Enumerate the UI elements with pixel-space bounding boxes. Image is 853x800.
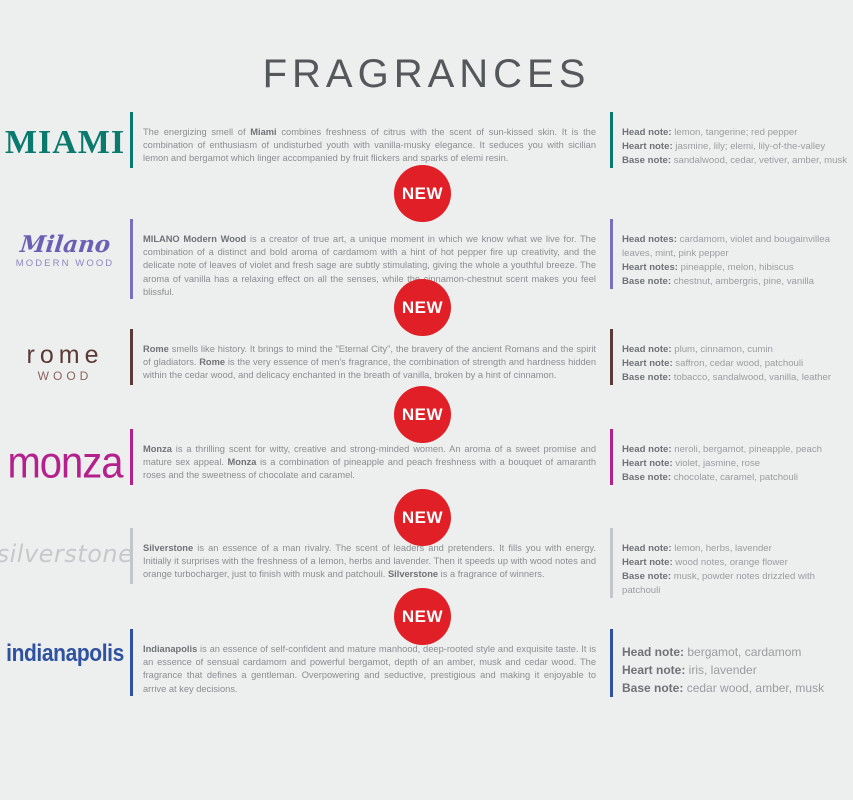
page-title: FRAGRANCES bbox=[0, 52, 853, 97]
note-value: pineapple, melon, hibiscus bbox=[678, 262, 794, 273]
fragrance-notes: Head note: bergamot, cardamomHeart note:… bbox=[622, 629, 853, 697]
brand-mention: Indianapolis bbox=[143, 644, 197, 654]
note-value: bergamot, cardamom bbox=[684, 645, 801, 659]
brand-logo-silverstone[interactable]: silverstone bbox=[0, 542, 133, 566]
note-line: Base note: sandalwood, cedar, vetiver, a… bbox=[622, 154, 853, 168]
note-value: sandalwood, cedar, vetiver, amber, musk bbox=[671, 155, 847, 166]
brand-logo-monza[interactable]: monza bbox=[7, 441, 122, 486]
brand-logo-name: rome bbox=[27, 343, 104, 368]
description-cell-silverstone: Silverstone is an essence of a man rival… bbox=[130, 528, 610, 584]
note-line: Base note: cedar wood, amber, musk bbox=[622, 679, 853, 697]
note-line: Heart notes: pineapple, melon, hibiscus bbox=[622, 261, 853, 275]
brand-logo-subtitle: MODERN WOOD bbox=[16, 259, 115, 269]
note-label: Heart notes: bbox=[622, 262, 678, 273]
fragrance-notes: Head notes: cardamom, violet and bougain… bbox=[622, 219, 853, 289]
note-value: chocolate, caramel, patchouli bbox=[671, 472, 798, 483]
brand-mention: Monza bbox=[143, 444, 172, 454]
fragrance-notes: Head note: lemon, herbs, lavenderHeart n… bbox=[622, 528, 853, 598]
note-value: lemon, herbs, lavender bbox=[672, 543, 772, 554]
note-label: Heart note: bbox=[622, 141, 673, 152]
brand-mention: Monza bbox=[228, 457, 257, 467]
note-label: Head notes: bbox=[622, 234, 677, 245]
note-line: Base note: tobacco, sandalwood, vanilla,… bbox=[622, 371, 853, 385]
brand-logo-rome[interactable]: romeWOOD bbox=[27, 343, 104, 382]
fragrances-page: FRAGRANCES MIAMIThe energizing smell of … bbox=[0, 0, 853, 800]
brand-mention: Silverstone bbox=[388, 569, 438, 579]
description-cell-monza: Monza is a thrilling scent for witty, cr… bbox=[130, 429, 610, 485]
note-value: jasmine, lily; elemi, lily-of-the-valley bbox=[673, 141, 825, 152]
logo-cell-miami: MIAMI bbox=[0, 112, 130, 160]
note-value: neroli, bergamot, pineapple, peach bbox=[672, 444, 822, 455]
note-label: Base note: bbox=[622, 155, 671, 166]
brand-logo-milano[interactable]: MilanoMODERN WOOD bbox=[16, 233, 115, 269]
note-line: Head note: lemon, herbs, lavender bbox=[622, 542, 853, 556]
brand-mention: Rome bbox=[143, 344, 169, 354]
note-line: Base note: chestnut, ambergris, pine, va… bbox=[622, 275, 853, 289]
note-label: Base note: bbox=[622, 372, 671, 383]
logo-cell-rome: romeWOOD bbox=[0, 329, 130, 382]
note-label: Head note: bbox=[622, 543, 672, 554]
note-line: Heart note: jasmine, lily; elemi, lily-o… bbox=[622, 140, 853, 154]
note-line: Head notes: cardamom, violet and bougain… bbox=[622, 233, 853, 261]
note-label: Base note: bbox=[622, 472, 671, 483]
note-value: tobacco, sandalwood, vanilla, leather bbox=[671, 372, 831, 383]
new-badge: NEW bbox=[394, 279, 451, 336]
fragrance-notes: Head note: plum, cinnamon, cuminHeart no… bbox=[622, 329, 853, 385]
note-label: Heart note: bbox=[622, 557, 673, 568]
note-label: Head note: bbox=[622, 444, 672, 455]
notes-cell-miami: Head note: lemon, tangerine; red pepperH… bbox=[610, 112, 853, 168]
note-line: Head note: bergamot, cardamom bbox=[622, 643, 853, 661]
note-value: cedar wood, amber, musk bbox=[683, 681, 824, 695]
fragrance-description: Silverstone is an essence of a man rival… bbox=[143, 528, 596, 582]
note-line: Head note: plum, cinnamon, cumin bbox=[622, 343, 853, 357]
note-value: saffron, cedar wood, patchouli bbox=[673, 358, 804, 369]
note-line: Heart note: wood notes, orange flower bbox=[622, 556, 853, 570]
note-label: Head note: bbox=[622, 127, 672, 138]
note-label: Head note: bbox=[622, 645, 684, 659]
brand-logo-name: Milano bbox=[14, 233, 115, 256]
brand-mention: Miami bbox=[250, 127, 276, 137]
brand-mention: Silverstone bbox=[143, 543, 193, 553]
brand-logo-miami[interactable]: MIAMI bbox=[5, 126, 125, 160]
brand-logo-indianapolis[interactable]: indianapolis bbox=[6, 641, 124, 665]
description-cell-rome: Rome smells like history. It brings to m… bbox=[130, 329, 610, 385]
fragrance-notes: Head note: neroli, bergamot, pineapple, … bbox=[622, 429, 853, 485]
description-cell-milano: MILANO Modern Wood is a creator of true … bbox=[130, 219, 610, 299]
logo-cell-indianapolis: indianapolis bbox=[0, 629, 130, 664]
note-line: Heart note: iris, lavender bbox=[622, 661, 853, 679]
new-badge: NEW bbox=[394, 588, 451, 645]
note-label: Base note: bbox=[622, 681, 683, 695]
note-value: iris, lavender bbox=[685, 663, 756, 677]
notes-cell-milano: Head notes: cardamom, violet and bougain… bbox=[610, 219, 853, 289]
note-label: Base note: bbox=[622, 276, 671, 287]
note-label: Heart note: bbox=[622, 358, 673, 369]
brand-mention: MILANO Modern Wood bbox=[143, 234, 246, 244]
new-badge: NEW bbox=[394, 489, 451, 546]
note-line: Base note: chocolate, caramel, patchouli bbox=[622, 471, 853, 485]
fragrance-description: Indianapolis is an essence of self-confi… bbox=[143, 629, 596, 696]
fragrance-description: The energizing smell of Miami combines f… bbox=[143, 112, 596, 166]
note-line: Base note: musk, powder notes drizzled w… bbox=[622, 570, 853, 598]
logo-cell-silverstone: silverstone bbox=[0, 528, 130, 566]
logo-cell-monza: monza bbox=[0, 429, 130, 483]
fragrance-description: MILANO Modern Wood is a creator of true … bbox=[143, 219, 596, 299]
notes-cell-monza: Head note: neroli, bergamot, pineapple, … bbox=[610, 429, 853, 485]
description-cell-indianapolis: Indianapolis is an essence of self-confi… bbox=[130, 629, 610, 696]
fragrance-notes: Head note: lemon, tangerine; red pepperH… bbox=[622, 112, 853, 168]
fragrance-row-indianapolis: indianapolisIndianapolis is an essence o… bbox=[0, 629, 853, 741]
brand-logo-subtitle: WOOD bbox=[27, 370, 104, 382]
note-line: Heart note: saffron, cedar wood, patchou… bbox=[622, 357, 853, 371]
note-line: Head note: lemon, tangerine; red pepper bbox=[622, 126, 853, 140]
note-label: Heart note: bbox=[622, 458, 673, 469]
note-value: lemon, tangerine; red pepper bbox=[672, 127, 798, 138]
notes-cell-silverstone: Head note: lemon, herbs, lavenderHeart n… bbox=[610, 528, 853, 598]
note-label: Heart note: bbox=[622, 663, 685, 677]
fragrance-description: Monza is a thrilling scent for witty, cr… bbox=[143, 429, 596, 483]
notes-cell-rome: Head note: plum, cinnamon, cuminHeart no… bbox=[610, 329, 853, 385]
logo-cell-milano: MilanoMODERN WOOD bbox=[0, 219, 130, 269]
brand-mention: Rome bbox=[199, 357, 225, 367]
note-line: Heart note: violet, jasmine, rose bbox=[622, 457, 853, 471]
new-badge: NEW bbox=[394, 165, 451, 222]
note-label: Base note: bbox=[622, 571, 671, 582]
note-label: Head note: bbox=[622, 344, 672, 355]
note-line: Head note: neroli, bergamot, pineapple, … bbox=[622, 443, 853, 457]
note-value: wood notes, orange flower bbox=[673, 557, 788, 568]
note-value: chestnut, ambergris, pine, vanilla bbox=[671, 276, 814, 287]
note-value: plum, cinnamon, cumin bbox=[672, 344, 773, 355]
notes-cell-indianapolis: Head note: bergamot, cardamomHeart note:… bbox=[610, 629, 853, 697]
fragrance-description: Rome smells like history. It brings to m… bbox=[143, 329, 596, 383]
description-cell-miami: The energizing smell of Miami combines f… bbox=[130, 112, 610, 168]
new-badge: NEW bbox=[394, 386, 451, 443]
note-value: violet, jasmine, rose bbox=[673, 458, 760, 469]
